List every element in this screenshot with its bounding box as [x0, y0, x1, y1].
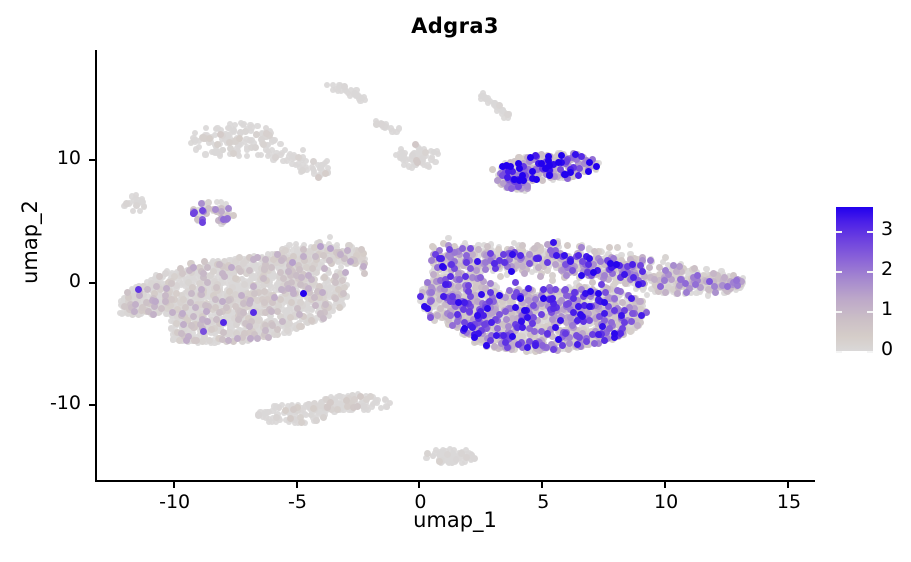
- scatter-point: [412, 141, 419, 148]
- umap-figure: Adgra3 -10-5051015 100-10 umap_1 umap_2 …: [0, 0, 911, 562]
- scatter-point: [236, 254, 243, 261]
- scatter-point: [591, 248, 598, 255]
- scatter-point: [321, 274, 328, 281]
- scatter-point: [188, 322, 195, 329]
- scatter-point: [274, 251, 281, 258]
- scatter-point: [213, 316, 220, 323]
- scatter-point: [261, 266, 268, 273]
- scatter-point: [230, 212, 237, 219]
- scatter-point: [156, 273, 163, 280]
- scatter-point: [262, 256, 269, 263]
- scatter-point: [218, 208, 225, 215]
- scatter-point: [434, 312, 441, 319]
- scatter-point: [213, 284, 220, 291]
- scatter-point: [247, 297, 254, 304]
- scatter-point: [244, 153, 250, 159]
- scatter-point: [352, 91, 358, 97]
- scatter-point: [152, 298, 159, 305]
- scatter-point: [361, 270, 368, 277]
- scatter-point: [203, 125, 209, 131]
- scatter-point: [150, 311, 157, 318]
- scatter-point: [204, 279, 211, 286]
- scatter-point: [519, 263, 526, 270]
- scatter-point: [124, 289, 131, 296]
- scatter-point: [334, 406, 341, 413]
- scatter-point: [336, 304, 343, 311]
- scatter-point: [153, 283, 160, 290]
- scatter-point: [397, 154, 403, 160]
- scatter-point: [422, 149, 429, 156]
- scatter-point: [144, 286, 151, 293]
- scatter-point: [163, 285, 170, 292]
- scatter-point: [662, 289, 669, 296]
- scatter-point: [241, 281, 248, 288]
- scatter-point: [265, 334, 272, 341]
- scatter-point: [327, 245, 334, 252]
- scatter-point: [313, 417, 320, 424]
- scatter-point: [221, 273, 228, 280]
- scatter-point: [208, 326, 215, 333]
- scatter-point: [644, 292, 650, 298]
- page-title: Adgra3: [95, 14, 815, 38]
- scatter-canvas: [97, 50, 815, 480]
- scatter-point: [552, 261, 559, 268]
- scatter-point: [289, 161, 295, 167]
- scatter-point: [202, 151, 208, 157]
- scatter-point: [662, 254, 669, 261]
- scatter-point: [299, 167, 306, 174]
- scatter-point: [230, 150, 237, 157]
- scatter-point: [721, 274, 728, 281]
- scatter-point: [471, 455, 478, 462]
- scatter-point: [206, 135, 213, 142]
- scatter-point: [198, 286, 205, 293]
- scatter-point: [312, 302, 319, 309]
- scatter-point: [217, 131, 224, 138]
- scatter-point: [539, 177, 546, 184]
- scatter-point: [483, 95, 489, 101]
- scatter-point: [277, 141, 283, 147]
- scatter-point: [636, 298, 643, 305]
- scatter-point: [337, 251, 344, 258]
- scatter-point: [242, 128, 249, 135]
- scatter-point: [296, 323, 303, 330]
- scatter-point: [254, 123, 260, 129]
- scatter-point: [300, 147, 306, 153]
- scatter-point: [322, 170, 329, 177]
- scatter-point: [190, 313, 197, 320]
- scatter-point: [285, 268, 292, 275]
- scatter-point: [158, 305, 165, 312]
- scatter-point: [226, 139, 233, 146]
- scatter-point: [424, 450, 431, 457]
- scatter-point: [133, 192, 139, 198]
- scatter-point: [238, 292, 245, 299]
- scatter-point: [453, 456, 459, 462]
- scatter-point: [308, 317, 315, 324]
- scatter-point: [248, 124, 254, 130]
- scatter-point: [216, 309, 223, 316]
- scatter-point: [360, 263, 367, 270]
- scatter-point: [255, 411, 262, 418]
- scatter-point: [272, 154, 279, 161]
- scatter-point: [341, 83, 348, 90]
- scatter-point: [312, 253, 319, 260]
- scatter-point: [132, 301, 139, 308]
- scatter-point: [204, 318, 211, 325]
- scatter-point: [279, 318, 286, 325]
- scatter-point: [162, 298, 169, 305]
- scatter-point: [311, 294, 318, 301]
- scatter-point: [237, 268, 244, 275]
- scatter-point: [252, 144, 259, 151]
- scatter-point: [240, 309, 247, 316]
- scatter-point: [193, 337, 200, 344]
- scatter-point: [342, 269, 349, 276]
- scatter-point: [203, 308, 210, 315]
- scatter-point: [268, 308, 275, 315]
- scatter-point: [266, 419, 272, 425]
- scatter-point: [491, 343, 498, 350]
- scatter-point: [282, 407, 289, 414]
- scatter-point: [315, 174, 322, 181]
- scatter-point: [455, 283, 462, 290]
- scatter-point: [234, 335, 241, 342]
- scatter-point: [320, 414, 327, 421]
- scatter-point: [344, 247, 351, 254]
- scatter-point: [519, 242, 526, 249]
- scatter-point: [261, 299, 268, 306]
- scatter-point: [497, 273, 504, 280]
- scatter-point: [173, 320, 180, 327]
- scatter-point: [141, 204, 147, 210]
- scatter-point: [170, 337, 176, 343]
- scatter-point: [196, 144, 202, 150]
- scatter-point: [228, 264, 235, 271]
- scatter-point: [473, 267, 480, 274]
- scatter-point: [284, 327, 291, 334]
- scatter-point: [627, 242, 633, 248]
- scatter-point: [190, 264, 197, 271]
- scatter-point: [206, 337, 213, 344]
- scatter-point: [251, 290, 258, 297]
- scatter-point: [674, 290, 681, 297]
- scatter-point: [327, 234, 333, 240]
- scatter-point: [646, 264, 653, 271]
- scatter-point: [225, 337, 232, 344]
- scatter-point: [320, 315, 327, 322]
- scatter-point: [240, 260, 247, 267]
- scatter-point: [296, 311, 303, 318]
- scatter-point: [286, 153, 292, 159]
- scatter-point: [309, 265, 316, 272]
- scatter-point: [188, 290, 195, 297]
- scatter-point: [258, 152, 264, 158]
- scatter-point: [429, 243, 436, 250]
- scatter-point: [131, 308, 138, 315]
- scatter-point: [537, 273, 544, 280]
- scatter-point: [426, 164, 432, 170]
- scatter-point: [136, 292, 143, 299]
- scatter-point: [232, 275, 239, 282]
- scatter-point: [606, 244, 613, 251]
- scatter-point: [614, 244, 621, 251]
- scatter-point: [703, 266, 709, 272]
- scatter-point: [276, 405, 282, 411]
- scatter-point: [254, 335, 261, 342]
- scatter-point: [123, 200, 130, 207]
- scatter-point: [367, 393, 374, 400]
- scatter-point: [396, 125, 402, 131]
- scatter-point: [317, 243, 324, 250]
- scatter-point: [179, 270, 186, 277]
- scatter-point: [287, 314, 294, 321]
- scatter-point: [254, 254, 261, 261]
- scatter-point: [357, 393, 364, 400]
- scatter-point: [627, 328, 634, 335]
- scatter-point: [332, 279, 339, 286]
- scatter-point: [432, 159, 438, 165]
- scatter-point: [332, 295, 339, 302]
- scatter-point: [310, 405, 317, 412]
- scatter-point: [188, 140, 194, 146]
- scatter-point: [589, 279, 596, 286]
- scatter-point: [300, 253, 307, 260]
- scatter-point: [326, 257, 333, 264]
- scatter-point: [387, 400, 393, 406]
- scatter-point: [269, 322, 276, 329]
- scatter-point: [247, 335, 254, 342]
- scatter-point: [549, 272, 556, 279]
- scatter-point: [214, 141, 221, 148]
- scatter-point: [200, 270, 207, 277]
- axis-spine-bottom: [95, 480, 815, 482]
- scatter-point: [260, 141, 267, 148]
- scatter-point: [564, 242, 571, 249]
- scatter-point: [521, 270, 528, 277]
- plot-axes: -10-5051015 100-10: [95, 50, 815, 482]
- scatter-point: [220, 147, 226, 153]
- scatter-point: [310, 158, 317, 165]
